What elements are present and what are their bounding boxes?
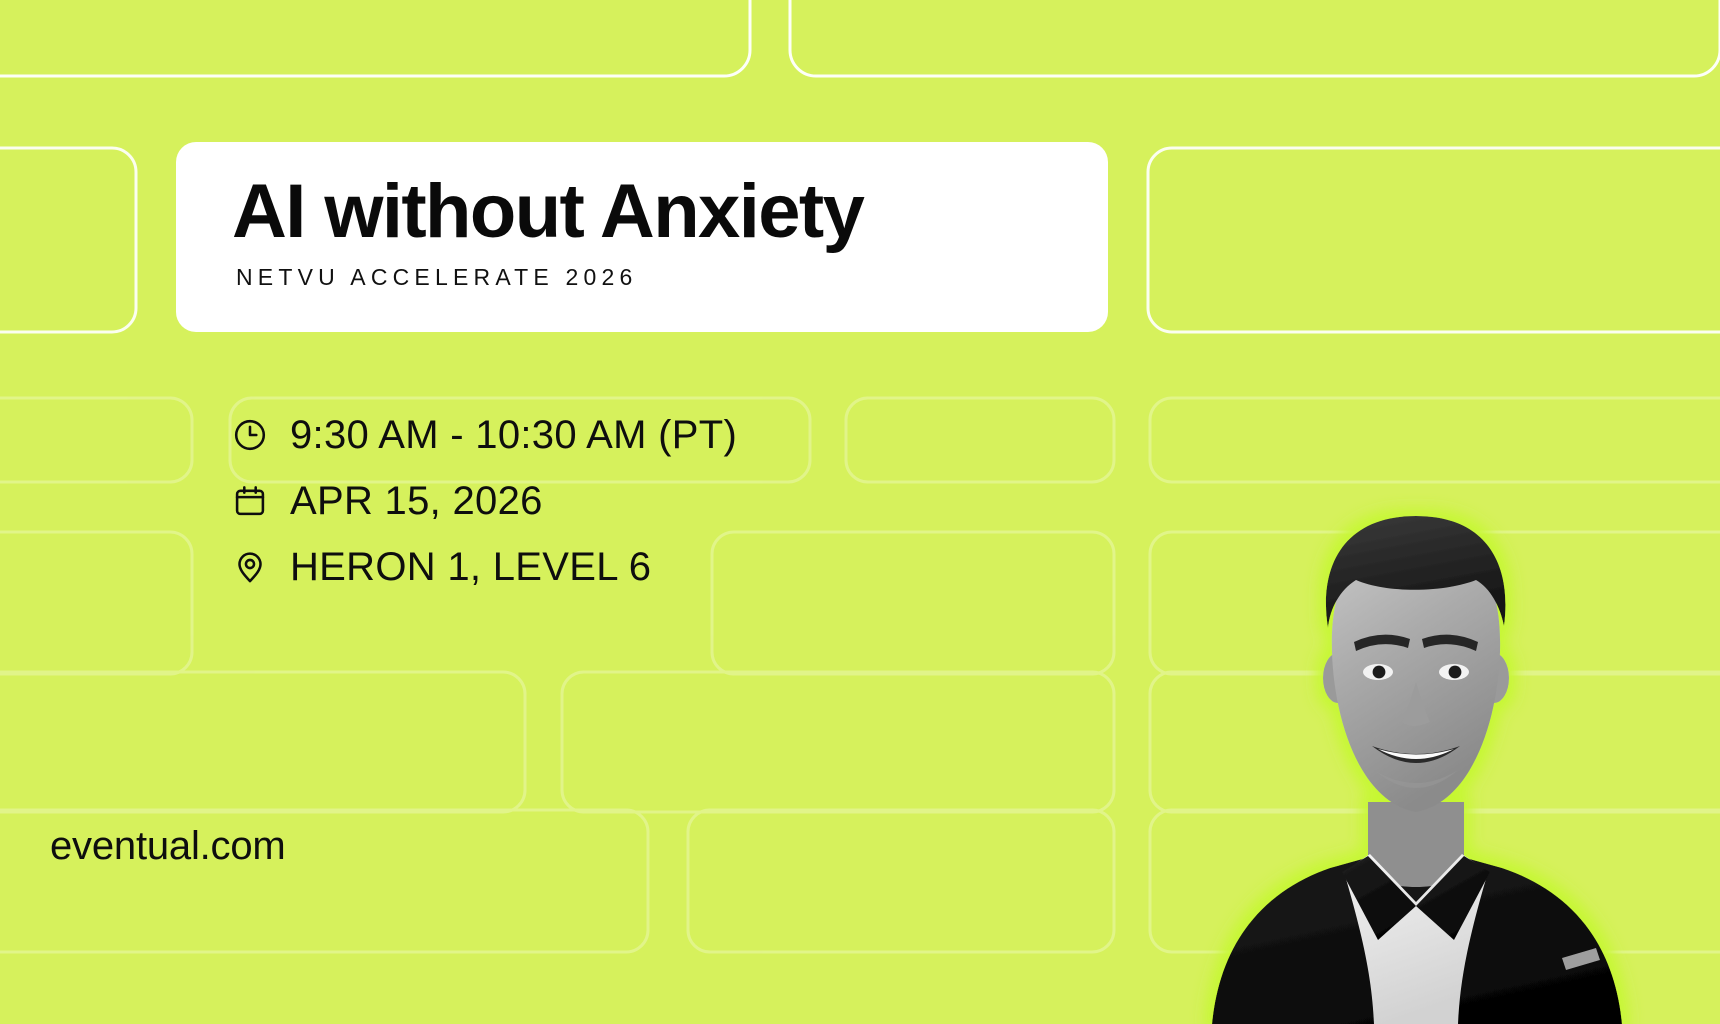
event-details-list: 9:30 AM - 10:30 AM (PT) APR 15, 2026 <box>232 412 737 590</box>
detail-row-time: 9:30 AM - 10:30 AM (PT) <box>232 412 737 458</box>
detail-text-time: 9:30 AM - 10:30 AM (PT) <box>290 412 737 458</box>
event-subtitle: NETVU ACCELERATE 2026 <box>236 262 1052 292</box>
speaker-portrait <box>1116 420 1716 1024</box>
event-promo-banner: AI without Anxiety NETVU ACCELERATE 2026… <box>0 0 1720 1024</box>
detail-row-date: APR 15, 2026 <box>232 478 737 524</box>
detail-text-date: APR 15, 2026 <box>290 478 543 524</box>
calendar-icon <box>232 483 268 519</box>
clock-icon <box>232 417 268 453</box>
detail-row-location: HERON 1, LEVEL 6 <box>232 544 737 590</box>
map-pin-icon <box>232 549 268 585</box>
detail-text-location: HERON 1, LEVEL 6 <box>290 544 651 590</box>
title-card: AI without Anxiety NETVU ACCELERATE 2026 <box>176 142 1108 332</box>
page-title: AI without Anxiety <box>232 168 1052 256</box>
footer-url: eventual.com <box>50 822 286 870</box>
